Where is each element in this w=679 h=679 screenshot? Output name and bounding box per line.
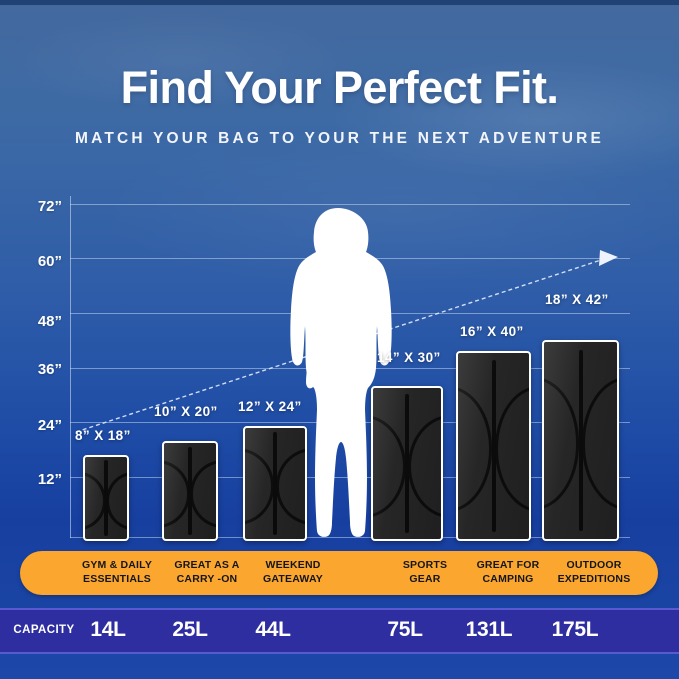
y-tick-label-60: 60” — [0, 253, 62, 270]
bag-dimension-label-131l: 16” X 40” — [460, 324, 524, 339]
use-case-44l: WEEKEND GATEAWAY — [234, 558, 352, 586]
y-axis-line — [70, 196, 71, 538]
bag-75l[interactable] — [371, 386, 443, 541]
bag-sheen — [458, 353, 529, 539]
use-case-175l: OUTDOOR EXPEDITIONS — [535, 558, 653, 586]
capacity-value-6: 175L — [535, 618, 615, 642]
use-case-line2: GATEAWAY — [234, 572, 352, 586]
capacity-value-1: 14L — [68, 618, 148, 642]
bag-44l[interactable] — [243, 426, 307, 541]
bag-dimension-label-75l: 14” X 30” — [377, 350, 441, 365]
capacity-value-4: 75L — [365, 618, 445, 642]
y-tick-label-48: 48” — [0, 313, 62, 330]
bag-dimension-label-14l: 8” X 18” — [75, 428, 131, 443]
use-case-line1: WEEKEND — [234, 558, 352, 572]
bag-dimension-label-175l: 18” X 42” — [545, 292, 609, 307]
y-tick-label-36: 36” — [0, 361, 62, 378]
use-case-bar: GYM & DAILY ESSENTIALS GREAT AS A CARRY … — [20, 551, 658, 595]
capacity-value-5: 131L — [449, 618, 529, 642]
use-case-line2: EXPEDITIONS — [535, 572, 653, 586]
bag-131l[interactable] — [456, 351, 531, 541]
use-case-line1: OUTDOOR — [535, 558, 653, 572]
capacity-bar: CAPACITY 14L 25L 44L 75L 131L 175L — [0, 608, 679, 654]
bag-175l[interactable] — [542, 340, 619, 541]
gridline-72 — [70, 204, 630, 205]
bag-sheen — [85, 457, 127, 539]
capacity-value-3: 44L — [233, 618, 313, 642]
bag-sheen — [544, 342, 617, 539]
bag-sheen — [373, 388, 441, 539]
bag-dimension-label-25l: 10” X 20” — [154, 404, 218, 419]
infographic-canvas: Find Your Perfect Fit. MATCH YOUR BAG TO… — [0, 0, 679, 679]
bag-sheen — [164, 443, 216, 539]
y-tick-label-24: 24” — [0, 417, 62, 434]
bag-sheen — [245, 428, 305, 539]
y-tick-label-72: 72” — [0, 198, 62, 215]
bag-25l[interactable] — [162, 441, 218, 541]
y-tick-label-12: 12” — [0, 471, 62, 488]
capacity-value-2: 25L — [150, 618, 230, 642]
bag-dimension-label-44l: 12” X 24” — [238, 399, 302, 414]
bag-14l[interactable] — [83, 455, 129, 541]
